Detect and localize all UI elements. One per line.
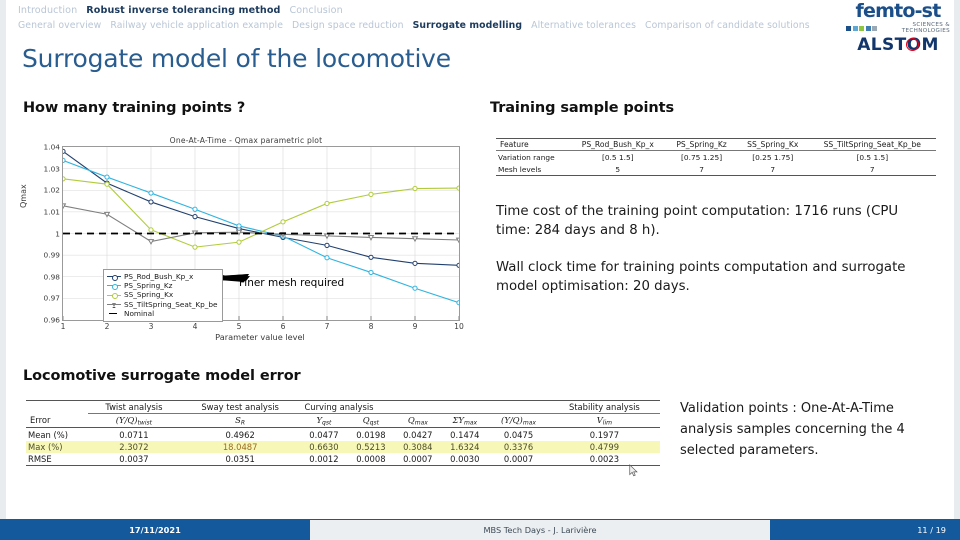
error-cell: 0.5213	[347, 441, 394, 453]
chart-x-tick-8: 9	[413, 322, 418, 331]
alstom-text-part2: M	[921, 35, 938, 55]
slide-footer: 17/11/2021 MBS Tech Days - J. Larivière …	[0, 520, 960, 540]
sample-col-header-1: PS_Rod_Bush_Kp_x	[569, 139, 666, 151]
sample-cell: 7	[809, 163, 936, 176]
error-group-header-3: Curving analysis	[300, 401, 548, 414]
error-cell: 18.0487	[180, 441, 301, 453]
error-row-label: Max (%)	[26, 441, 88, 453]
right-rail	[954, 0, 960, 540]
chart-x-tick-2: 3	[149, 322, 154, 331]
paragraph-time-cost: Time cost of the training point computat…	[496, 202, 936, 240]
swatch-3	[859, 26, 864, 31]
error-cell: 1.6324	[441, 441, 488, 453]
chart-legend-label: PS_Rod_Bush_Kp_x	[124, 272, 193, 281]
surrogate-error-table-body: Mean (%)0.07110.49620.04770.01980.04270.…	[26, 428, 660, 466]
error-subheader-4: Qqst	[347, 414, 394, 428]
error-cell: 0.3376	[488, 441, 548, 453]
chart-legend-item-1: PS_Spring_Kz	[107, 281, 218, 290]
heading-sample-points: Training sample points	[490, 100, 674, 116]
chart-legend-item-0: PS_Rod_Bush_Kp_x	[107, 272, 218, 281]
chart-x-tick-0: 1	[61, 322, 66, 331]
chart-legend-swatch-icon	[107, 282, 121, 289]
training-sample-table: FeaturePS_Rod_Bush_Kp_xPS_Spring_KzSS_Sp…	[496, 138, 936, 176]
left-rail	[0, 0, 6, 540]
chart-x-tick-3: 4	[193, 322, 198, 331]
femto-subtitle: SCIENCES & TECHNOLOGIES	[879, 22, 951, 34]
chart-x-tick-9: 10	[454, 322, 464, 331]
logo-group: femto-st SCIENCES & TECHNOLOGIES ALSTOM	[846, 2, 950, 54]
table-header-row: FeaturePS_Rod_Bush_Kp_xPS_Spring_KzSS_Sp…	[496, 139, 936, 151]
femto-swatches-row: SCIENCES & TECHNOLOGIES	[846, 22, 950, 34]
chart-x-tick-7: 8	[369, 322, 374, 331]
nav-secondary-item-5[interactable]: Comparison of candidate solutions	[645, 19, 810, 32]
chart-y-tick-3: 0.99	[44, 251, 60, 260]
error-cell: 0.0477	[300, 428, 347, 441]
heading-training-points: How many training points ?	[23, 100, 245, 116]
error-group-header-4: Stability analysis	[549, 401, 660, 414]
chart-legend-label: Nominal	[124, 309, 154, 318]
error-subheader-3: Yqst	[300, 414, 347, 428]
nav-row-secondary: General overviewRailway vehicle applicat…	[18, 19, 778, 32]
swatch-1	[846, 26, 851, 31]
alstom-o-ring-icon: O	[907, 36, 922, 54]
error-cell: 0.4962	[180, 428, 301, 441]
nav-primary-item-0[interactable]: Introduction	[18, 4, 77, 17]
error-group-header-0	[26, 401, 88, 414]
error-cell: 2.3072	[88, 441, 180, 453]
chart-plot-area: PS_Rod_Bush_Kp_xPS_Spring_KzSS_Spring_Kx…	[62, 146, 460, 321]
error-subheader-5: Qmax	[394, 414, 441, 428]
error-subheader-8: Vlim	[549, 414, 660, 428]
error-cell: 0.4799	[549, 441, 660, 453]
chart-legend-item-3: SS_TiltSpring_Seat_Kp_be	[107, 300, 218, 309]
nav-primary-item-2[interactable]: Conclusion	[289, 4, 342, 17]
chart-legend-swatch-icon	[107, 292, 121, 299]
sample-cell: 7	[737, 163, 809, 176]
error-group-header-1: Twist analysis	[88, 401, 180, 414]
nav-secondary-item-4[interactable]: Alternative tolerances	[531, 19, 636, 32]
training-sample-table-head: FeaturePS_Rod_Bush_Kp_xPS_Spring_KzSS_Sp…	[496, 139, 936, 151]
chart-x-tick-1: 2	[105, 322, 110, 331]
chart-y-tick-2: 0.98	[44, 272, 60, 281]
chart-annotation-label: Finer mesh required	[239, 277, 344, 289]
error-group-header-2: Sway test analysis	[180, 401, 301, 414]
surrogate-error-table-head: Twist analysisSway test analysisCurving …	[26, 401, 660, 428]
error-cell: 0.3084	[394, 441, 441, 453]
nav-secondary-item-2[interactable]: Design space reduction	[292, 19, 404, 32]
chart-x-tick-5: 6	[281, 322, 286, 331]
chart-y-axis-label: Qmax	[19, 184, 28, 208]
chart-y-tick-4: 1	[55, 229, 60, 238]
table-subheader-row: Error(Y/Q)twistSRYqstQqstQmaxΣYmax(Y/Q)m…	[26, 414, 660, 428]
error-cell: 0.0007	[394, 453, 441, 466]
error-cell: 0.1977	[549, 428, 660, 441]
nav-primary-item-1[interactable]: Robust inverse tolerancing method	[86, 4, 280, 17]
heading-model-error: Locomotive surrogate model error	[23, 368, 301, 384]
chart-series-2	[63, 179, 459, 247]
error-cell: 0.0012	[300, 453, 347, 466]
chart-legend-swatch-icon	[107, 310, 121, 317]
table-row: Mean (%)0.07110.49620.04770.01980.04270.…	[26, 428, 660, 441]
chart-legend-item-2: SS_Spring_Kx	[107, 290, 218, 299]
chart-x-tick-4: 5	[237, 322, 242, 331]
chart-legend-item-4: Nominal	[107, 309, 218, 318]
chart-title: One-At-A-Time - Qmax parametric plot	[24, 136, 468, 145]
paragraph-validation-points: Validation points : One-At-A-Time analys…	[680, 398, 940, 461]
table-row: Variation range[0.5 1.5][0.75 1.25][0.25…	[496, 151, 936, 164]
error-row-label: RMSE	[26, 453, 88, 466]
sample-cell: [0.5 1.5]	[569, 151, 666, 164]
error-cell: 0.0023	[549, 453, 660, 466]
paragraph-wall-clock: Wall clock time for training points comp…	[496, 258, 936, 296]
femto-st-logo: femto-st	[846, 2, 950, 21]
error-cell: 0.0030	[441, 453, 488, 466]
chart-legend-label: SS_TiltSpring_Seat_Kp_be	[124, 300, 218, 309]
sample-row-label: Mesh levels	[496, 163, 569, 176]
sample-col-header-2: PS_Spring_Kz	[666, 139, 737, 151]
chart-x-tick-6: 7	[325, 322, 330, 331]
training-sample-table-body: Variation range[0.5 1.5][0.75 1.25][0.25…	[496, 151, 936, 176]
chart-legend-label: SS_Spring_Kx	[124, 290, 173, 299]
sample-cell: [0.75 1.25]	[666, 151, 737, 164]
slide: IntroductionRobust inverse tolerancing m…	[0, 0, 960, 540]
error-cell: 0.6630	[300, 441, 347, 453]
table-row: Mesh levels5777	[496, 163, 936, 176]
error-row-label: Mean (%)	[26, 428, 88, 441]
chart-y-tick-6: 1.02	[44, 186, 60, 195]
chart-y-tick-8: 1.04	[44, 143, 60, 152]
nav-row-primary: IntroductionRobust inverse tolerancing m…	[18, 4, 778, 17]
footer-date: 17/11/2021	[0, 520, 310, 540]
page-title: Surrogate model of the locomotive	[22, 44, 451, 73]
footer-title: MBS Tech Days - J. Larivière	[310, 520, 770, 540]
swatch-5	[872, 26, 877, 31]
oat-qmax-chart: One-At-A-Time - Qmax parametric plot Qma…	[24, 136, 468, 346]
sample-col-header-3: SS_Spring_Kx	[737, 139, 809, 151]
table-row: Max (%)2.307218.04870.66300.52130.30841.…	[26, 441, 660, 453]
table-group-header-row: Twist analysisSway test analysisCurving …	[26, 401, 660, 414]
nav-secondary-item-1[interactable]: Railway vehicle application example	[110, 19, 283, 32]
chart-y-tick-7: 1.03	[44, 164, 60, 173]
training-sample-table-element: FeaturePS_Rod_Bush_Kp_xPS_Spring_KzSS_Sp…	[496, 138, 936, 176]
error-cell: 0.0198	[347, 428, 394, 441]
section-navigation: IntroductionRobust inverse tolerancing m…	[18, 4, 778, 32]
alstom-text-part1: ALST	[857, 35, 906, 55]
sample-cell: [0.5 1.5]	[809, 151, 936, 164]
error-subheader-0: Error	[26, 414, 88, 428]
error-cell: 0.0037	[88, 453, 180, 466]
swatch-4	[866, 26, 871, 31]
error-subheader-2: SR	[180, 414, 301, 428]
chart-legend: PS_Rod_Bush_Kp_xPS_Spring_KzSS_Spring_Kx…	[103, 269, 223, 322]
table-row: RMSE0.00370.03510.00120.00080.00070.0030…	[26, 453, 660, 466]
surrogate-error-table-element: Twist analysisSway test analysisCurving …	[26, 400, 660, 466]
chart-legend-swatch-icon	[107, 301, 121, 308]
error-cell: 0.0008	[347, 453, 394, 466]
chart-x-axis-label: Parameter value level	[62, 332, 458, 342]
sample-col-header-0: Feature	[496, 139, 569, 151]
chart-y-tick-5: 1.01	[44, 207, 60, 216]
nav-secondary-item-0[interactable]: General overview	[18, 19, 101, 32]
femto-subtitle-line2: TECHNOLOGIES	[902, 28, 950, 34]
sample-cell: 7	[666, 163, 737, 176]
error-cell: 0.1474	[441, 428, 488, 441]
chart-legend-swatch-icon	[107, 273, 121, 280]
sample-row-label: Variation range	[496, 151, 569, 164]
error-subheader-6: ΣYmax	[441, 414, 488, 428]
chart-series-3	[63, 206, 459, 242]
surrogate-error-table: Twist analysisSway test analysisCurving …	[26, 400, 660, 466]
error-cell: 0.0427	[394, 428, 441, 441]
alstom-logo: ALSTOM	[846, 36, 950, 54]
error-subheader-1: (Y/Q)twist	[88, 414, 180, 428]
sample-cell: 5	[569, 163, 666, 176]
sample-col-header-4: SS_TiltSpring_Seat_Kp_be	[809, 139, 936, 151]
error-cell: 0.0711	[88, 428, 180, 441]
error-cell: 0.0475	[488, 428, 548, 441]
swatch-2	[853, 26, 858, 31]
error-cell: 0.0007	[488, 453, 548, 466]
chart-y-tick-1: 0.97	[44, 294, 60, 303]
chart-legend-label: PS_Spring_Kz	[124, 281, 173, 290]
mouse-cursor-icon	[629, 464, 638, 477]
footer-page-number: 11 / 19	[770, 520, 960, 540]
nav-secondary-item-3[interactable]: Surrogate modelling	[413, 19, 523, 32]
sample-cell: [0.25 1.75]	[737, 151, 809, 164]
error-cell: 0.0351	[180, 453, 301, 466]
chart-y-tick-0: 0.96	[44, 316, 60, 325]
error-subheader-7: (Y/Q)max	[488, 414, 548, 428]
